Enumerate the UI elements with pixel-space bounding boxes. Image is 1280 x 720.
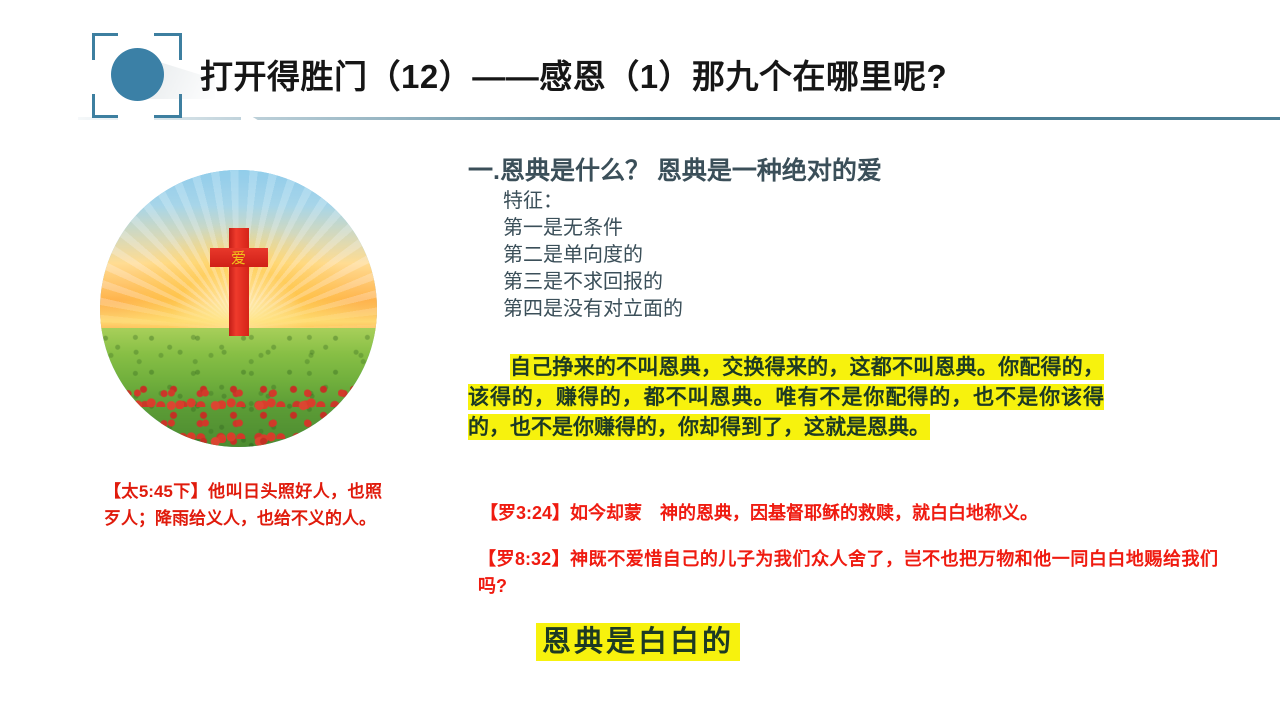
scripture-reference: 【罗8:32】 — [478, 549, 570, 569]
scripture-quote-romans-8-32: 【罗8:32】神既不爱惜自己的儿子为我们众人舍了，岂不也把万物和他一同白白地赐给… — [478, 546, 1218, 600]
scripture-reference: 【罗3:24】 — [480, 503, 570, 523]
cross-in-flower-field-photo: 爱 — [100, 170, 377, 447]
feature-list-item: 第一是无条件 — [503, 215, 683, 242]
feature-list: 特征： 第一是无条件 第二是单向度的 第三是不求回报的 第四是没有对立面的 — [503, 188, 683, 323]
scripture-text: 神既不爱惜自己的儿子为我们众人舍了，岂不也把万物和他一同白白地赐给我们吗? — [478, 549, 1218, 596]
slide-canvas: 打开得胜门（12）——感恩（1）那九个在哪里呢? 爱 【太5:45下】他叫日头照… — [0, 0, 1280, 720]
scripture-quote-romans-3-24: 【罗3:24】如今却蒙 神的恩典，因基督耶稣的救赎，就白白地称义。 — [480, 500, 1240, 527]
feature-list-item: 特征： — [503, 188, 683, 215]
play-button-icon — [111, 48, 164, 101]
photo-caption-reference: 【太5:45下】 — [104, 482, 208, 501]
feature-list-item: 第四是没有对立面的 — [503, 296, 683, 323]
cross-vertical-bar — [229, 228, 249, 336]
conclusion-text: 恩典是白白的 — [536, 623, 740, 661]
frame-notch-left — [89, 60, 97, 94]
grace-definition-text: 自己挣来的不叫恩典，交换得来的，这都不叫恩典。你配得的，该得的，赚得的，都不叫恩… — [468, 354, 1104, 440]
play-triangle-glyph — [241, 110, 261, 134]
cross-center-glyph: 爱 — [230, 249, 248, 267]
frame-notch-bottom — [118, 113, 154, 122]
conclusion-highlight: 恩典是白白的 — [536, 622, 740, 662]
section-heading: 一.恩典是什么？ 恩典是一种绝对的爱 — [468, 151, 882, 187]
grace-definition-paragraph: 自己挣来的不叫恩典，交换得来的，这都不叫恩典。你配得的，该得的，赚得的，都不叫恩… — [468, 352, 1104, 442]
feature-list-item: 第二是单向度的 — [503, 242, 683, 269]
photo-caption: 【太5:45下】他叫日头照好人，也照歹人；降雨给义人，也给不义的人。 — [104, 478, 382, 532]
scripture-text: 如今却蒙 神的恩典，因基督耶稣的救赎，就白白地称义。 — [570, 503, 1038, 523]
slide-title: 打开得胜门（12）——感恩（1）那九个在哪里呢? — [200, 50, 947, 98]
feature-list-item: 第三是不求回报的 — [503, 269, 683, 296]
frame-notch-top — [118, 30, 154, 38]
red-flowers — [100, 375, 377, 447]
